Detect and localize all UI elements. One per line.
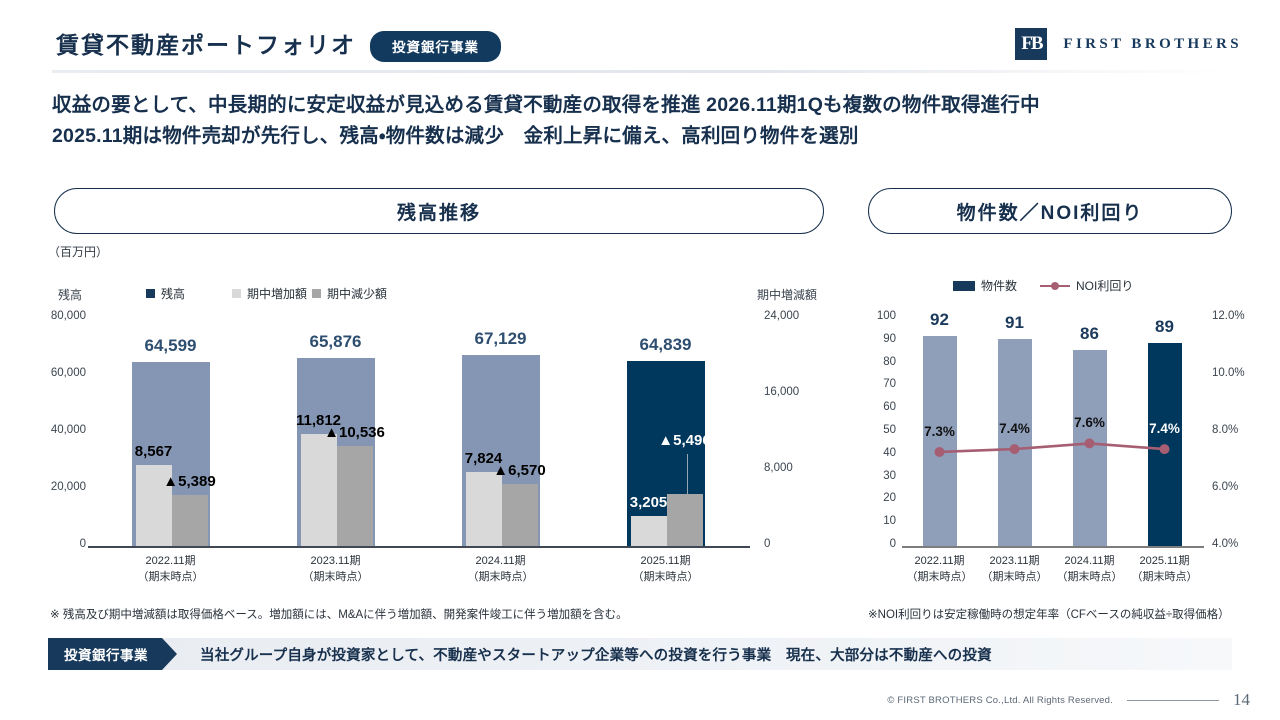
- y2-tick-2: 16,000: [764, 386, 799, 398]
- x-category-sublabel: （期末時点）: [606, 570, 726, 586]
- r-y2-tick-1: 6.0%: [1212, 481, 1238, 493]
- page-number: 14: [1233, 690, 1250, 710]
- r-y2-tick-4: 12.0%: [1212, 310, 1245, 322]
- label-decrease-2: ▲6,570: [493, 462, 545, 479]
- left-chart-footnote: ※ 残高及び期中増減額は取得価格ベース。増加額には、M&Aに伴う増加額、開発案件…: [50, 606, 628, 622]
- noi-marker-2: [1085, 438, 1095, 448]
- legend-item-properties: 物件数: [953, 277, 1017, 294]
- left-chart-y-axis-name: 残高: [58, 286, 82, 303]
- slide-footer: © FIRST BROTHERS Co.,Ltd. All Rights Res…: [887, 690, 1250, 710]
- banner-description: 当社グループ自身が投資家として、不動産やスタートアップ企業等への投資を行う事業 …: [200, 644, 992, 665]
- r-y-tick-1: 10: [858, 515, 896, 527]
- header-segment-badge: 投資銀行事業: [370, 31, 501, 62]
- label-decrease-3: ▲5,496: [658, 432, 710, 449]
- noi-marker-1: [1010, 444, 1020, 454]
- unit-note: （百万円）: [48, 243, 108, 260]
- y-tick-0: 0: [40, 538, 86, 550]
- balance-trend-chart: 64,5998,567▲5,38965,87611,812▲10,53667,1…: [88, 318, 748, 546]
- r-y-tick-5: 50: [858, 424, 896, 436]
- left-chart-baseline: [88, 546, 750, 548]
- logo-wordmark: FIRST BROTHERS: [1063, 36, 1242, 53]
- bar-decrease-0: [172, 495, 208, 546]
- legend-item-2: 期中減少額: [312, 285, 387, 302]
- noi-marker-3: [1160, 444, 1170, 454]
- label-noi-1: 7.4%: [975, 421, 1055, 436]
- lead-line-1: 収益の要として、中長期的に安定収益が見込める賃貸不動産の取得を推進 2026.1…: [52, 90, 1242, 121]
- r-y2-tick-2: 8.0%: [1212, 424, 1238, 436]
- company-logo: FB FIRST BROTHERS: [1015, 28, 1242, 60]
- x-category-0: 2022.11期（期末時点）: [111, 554, 231, 586]
- legend-label: 期中減少額: [327, 285, 387, 302]
- label-balance-2: 67,129: [441, 329, 561, 349]
- y-tick-1: 20,000: [40, 481, 86, 493]
- lead-copy: 収益の要として、中長期的に安定収益が見込める賃貸不動産の取得を推進 2026.1…: [52, 90, 1242, 152]
- x-category-sublabel: （期末時点）: [441, 570, 561, 586]
- r-y-tick-4: 40: [858, 447, 896, 459]
- section-title-balance: 残高推移: [54, 188, 824, 234]
- r-y-tick-0: 0: [858, 538, 896, 550]
- x-category-label: 2024.11期: [441, 554, 561, 570]
- section-title-properties: 物件数／NOI利回り: [868, 188, 1232, 234]
- legend-label: 物件数: [981, 277, 1017, 294]
- r-y2-tick-0: 4.0%: [1212, 538, 1238, 550]
- r-y-tick-2: 20: [858, 492, 896, 504]
- x-category-label: 2023.11期: [276, 554, 396, 570]
- r-y-tick-7: 70: [858, 378, 896, 390]
- right-chart-footnote: ※NOI利回りは安定稼働時の想定年率（CFベースの純収益÷取得価格）: [868, 606, 1230, 622]
- r-x-category-3: 2025.11期（期末時点）: [1120, 554, 1210, 586]
- label-increase-3: 3,205: [630, 494, 668, 511]
- r-y-tick-3: 30: [858, 470, 896, 482]
- legend-item-noi: NOI利回り: [1040, 277, 1133, 294]
- label-increase-0: 8,567: [135, 443, 173, 460]
- x-category-3: 2025.11期（期末時点）: [606, 554, 726, 586]
- header-divider: [52, 70, 1230, 73]
- label-balance-1: 65,876: [276, 332, 396, 352]
- label-noi-0: 7.3%: [900, 424, 980, 439]
- y2-tick-3: 24,000: [764, 310, 799, 322]
- legend-swatch-icon: [232, 289, 241, 298]
- r-x-category-sublabel: （期末時点）: [1120, 570, 1210, 586]
- page-title: 賃貸不動産ポートフォリオ: [56, 26, 356, 60]
- y2-tick-1: 8,000: [764, 462, 793, 474]
- segment-description-banner: 投資銀行事業 当社グループ自身が投資家として、不動産やスタートアップ企業等への投…: [48, 638, 1232, 670]
- r-y-tick-9: 90: [858, 333, 896, 345]
- legend-label: 期中増加額: [247, 285, 307, 302]
- r-x-category-label: 2025.11期: [1120, 554, 1210, 570]
- left-chart-y2-axis-name: 期中増減額: [757, 286, 817, 303]
- bar-increase-3: [631, 516, 667, 546]
- label-noi-3: 7.4%: [1125, 421, 1205, 436]
- bar-decrease-1: [337, 446, 373, 546]
- balance-trend-plot: 64,5998,567▲5,38965,87611,812▲10,53667,1…: [88, 318, 748, 546]
- right-chart-baseline: [902, 546, 1204, 548]
- leader-line-decrease-3: [687, 454, 688, 494]
- legend-label: 残高: [161, 285, 185, 302]
- y-tick-3: 60,000: [40, 367, 86, 379]
- x-category-2: 2024.11期（期末時点）: [441, 554, 561, 586]
- slide-root: 賃貸不動産ポートフォリオ 投資銀行事業 FB FIRST BROTHERS 収益…: [0, 0, 1280, 720]
- footer-divider: [1127, 700, 1219, 701]
- legend-line-swatch-icon: [1040, 281, 1070, 291]
- noi-marker-0: [935, 447, 945, 457]
- x-category-label: 2025.11期: [606, 554, 726, 570]
- label-decrease-0: ▲5,389: [163, 473, 215, 490]
- legend-swatch-icon: [146, 289, 155, 298]
- lead-line-2: 2025.11期は物件売却が先行し、残高・物件数は減少 金利上昇に備え、高利回り…: [52, 121, 1242, 152]
- legend-bar-swatch-icon: [953, 281, 975, 291]
- bar-increase-1: [301, 434, 337, 546]
- x-category-sublabel: （期末時点）: [276, 570, 396, 586]
- bar-decrease-2: [502, 484, 538, 546]
- bar-increase-2: [466, 472, 502, 546]
- r-y-tick-8: 80: [858, 356, 896, 368]
- r-y-tick-10: 100: [858, 310, 896, 322]
- copyright-text: © FIRST BROTHERS Co.,Ltd. All Rights Res…: [887, 695, 1113, 706]
- legend-item-1: 期中増加額: [232, 285, 307, 302]
- legend-swatch-icon: [312, 289, 321, 298]
- x-category-sublabel: （期末時点）: [111, 570, 231, 586]
- properties-noi-chart: 927.3%917.4%867.6%897.4%: [902, 318, 1202, 546]
- banner-segment-tag: 投資銀行事業: [48, 638, 162, 670]
- y-tick-4: 80,000: [40, 310, 86, 322]
- r-y-tick-6: 60: [858, 401, 896, 413]
- bar-decrease-3: [667, 494, 703, 546]
- label-balance-0: 64,599: [111, 336, 231, 356]
- x-category-label: 2022.11期: [111, 554, 231, 570]
- y2-tick-0: 0: [764, 538, 770, 550]
- logo-mark-icon: FB: [1015, 28, 1047, 60]
- label-noi-2: 7.6%: [1050, 415, 1130, 430]
- label-balance-3: 64,839: [606, 335, 726, 355]
- label-decrease-1: ▲10,536: [324, 424, 385, 441]
- legend-label: NOI利回り: [1076, 277, 1133, 294]
- r-y2-tick-3: 10.0%: [1212, 367, 1245, 379]
- legend-item-0: 残高: [146, 285, 185, 302]
- y-tick-2: 40,000: [40, 424, 86, 436]
- x-category-1: 2023.11期（期末時点）: [276, 554, 396, 586]
- noi-line-path: [940, 443, 1165, 452]
